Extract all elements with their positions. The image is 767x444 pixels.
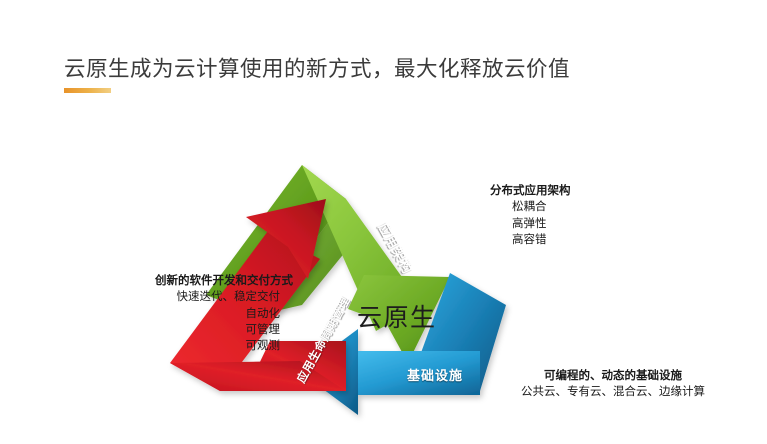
annotation-heading: 可编程的、动态的基础设施 (521, 368, 705, 384)
annotation-programmable-infrastructure: 可编程的、动态的基础设施 公共云、专有云、混合云、边缘计算 (521, 368, 705, 401)
annotation-item: 快速迭代、稳定交付 (155, 289, 280, 305)
annotation-item: 自动化 (155, 306, 280, 322)
page-title: 云原生成为云计算使用的新方式，最大化释放云价值 (64, 52, 570, 83)
annotation-item: 可管理 (155, 322, 280, 338)
annotation-item: 公共云、专有云、混合云、边缘计算 (521, 384, 705, 400)
annotation-item: 可观测 (155, 338, 280, 354)
annotation-software-delivery: 创新的软件开发和交付方式 快速迭代、稳定交付 自动化 可管理 可观测 (155, 273, 280, 355)
annotation-heading: 分布式应用架构 (490, 183, 571, 199)
annotation-item: 松耦合 (490, 199, 571, 215)
annotation-heading: 创新的软件开发和交付方式 (155, 273, 280, 289)
title-accent-bar (64, 88, 111, 93)
annotation-item: 高弹性 (490, 216, 571, 232)
annotation-distributed-architecture: 分布式应用架构 松耦合 高弹性 高容错 (490, 183, 571, 248)
diagram-center-label: 云原生 (357, 298, 437, 334)
annotation-item: 高容错 (490, 232, 571, 248)
